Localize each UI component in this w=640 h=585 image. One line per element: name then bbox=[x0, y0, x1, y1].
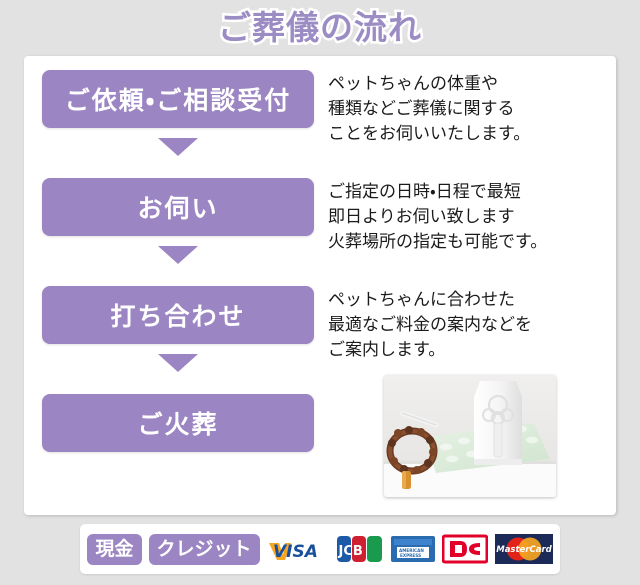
flow-row-1: ご依頼・ご相談受付 ペットちゃんの体重や 種類などご葬儀に関する ことをお伺いい… bbox=[24, 70, 616, 147]
american-express-logo-icon: AMERICAN EXPRESS bbox=[391, 534, 435, 564]
dc-logo-icon bbox=[442, 534, 488, 564]
jcb-logo-icon: JCB bbox=[336, 534, 384, 564]
cremation-ceremony-photo bbox=[384, 375, 556, 497]
flow-row-3: 打ち合わせ ペットちゃんに合わせた 最適なご料金の案内などを ご案内します。 bbox=[24, 286, 616, 363]
flow-step-box-3[interactable]: 打ち合わせ bbox=[42, 286, 314, 344]
flow-row-2: お伺い ご指定の日時・日程で最短 即日よりお伺い致します 火葬場所の指定も可能で… bbox=[24, 178, 616, 255]
flow-diagram: ご依頼・ご相談受付 ペットちゃんの体重や 種類などご葬儀に関する ことをお伺いい… bbox=[24, 56, 616, 515]
mastercard-logo-icon: MasterCard bbox=[495, 533, 553, 565]
flow-panel: ご依頼・ご相談受付 ペットちゃんの体重や 種類などご葬儀に関する ことをお伺いい… bbox=[24, 56, 616, 515]
flow-arrow-down-icon-1 bbox=[158, 138, 198, 156]
svg-text:JCB: JCB bbox=[337, 544, 362, 559]
svg-text:VISA: VISA bbox=[273, 542, 318, 562]
visa-logo-icon: VISA bbox=[267, 536, 329, 562]
flow-arrow-down-icon-2 bbox=[158, 246, 198, 264]
payment-chip-cash: 現金 bbox=[87, 534, 141, 565]
page-title: ご葬儀の流れ bbox=[0, 6, 640, 50]
svg-text:MasterCard: MasterCard bbox=[496, 545, 552, 555]
payment-methods-bar: 現金 クレジット VISA JCB AMERICAN EXPRESS bbox=[80, 524, 560, 574]
flow-step-box-4[interactable]: ご火葬 bbox=[42, 394, 314, 452]
flow-step-description-3: ペットちゃんに合わせた 最適なご料金の案内などを ご案内します。 bbox=[328, 286, 532, 363]
flow-arrow-down-icon-3 bbox=[158, 354, 198, 372]
flow-step-description-2: ご指定の日時・日程で最短 即日よりお伺い致します 火葬場所の指定も可能です。 bbox=[328, 178, 547, 255]
svg-text:EXPRESS: EXPRESS bbox=[400, 553, 421, 558]
flow-step-box-2[interactable]: お伺い bbox=[42, 178, 314, 236]
payment-chip-credit: クレジット bbox=[149, 534, 260, 565]
flow-step-box-1[interactable]: ご依頼・ご相談受付 bbox=[42, 70, 314, 128]
flow-step-description-1: ペットちゃんの体重や 種類などご葬儀に関する ことをお伺いいたします。 bbox=[328, 70, 530, 147]
